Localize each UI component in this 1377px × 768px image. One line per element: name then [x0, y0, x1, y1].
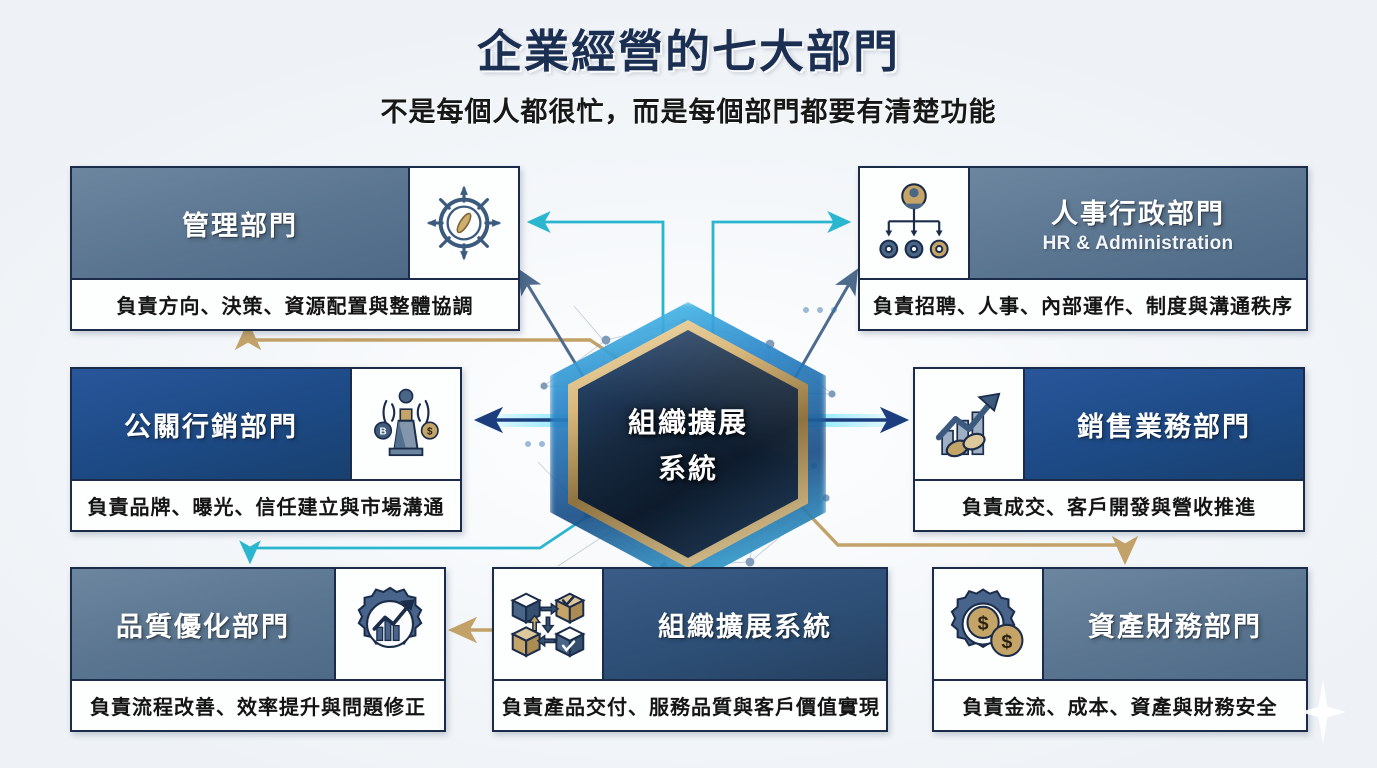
card-sales-desc: 負責成交、客戶開發與營收推進 — [915, 479, 1303, 530]
hub-label-line2: 系統 — [658, 447, 718, 487]
page-subtitle: 不是每個人都很忙，而是每個部門都要有清楚功能 — [0, 90, 1377, 129]
card-marketing-header: 公關行銷部門 — [72, 369, 350, 479]
card-quality-top: 品質優化部門 — [72, 569, 444, 679]
card-orgsys[interactable]: 組織擴展系統 負責產品交付、服務品質與客戶價值實現 — [492, 567, 888, 732]
card-sales-top: 銷售業務部門 — [915, 369, 1303, 479]
card-hr-top: 人事行政部門 HR & Administration — [860, 168, 1306, 278]
hub-label: 組織擴展 系統 — [566, 318, 810, 570]
svg-text:B: B — [379, 427, 386, 438]
gear-coins-icon: $ $ — [934, 569, 1044, 679]
broadcast-tower-icon: B $ — [350, 369, 460, 479]
compass-icon — [408, 168, 518, 278]
card-marketing-desc: 負責品牌、曝光、信任建立與市場溝通 — [72, 479, 460, 530]
hub-label-line1: 組織擴展 — [628, 401, 748, 441]
card-quality-desc: 負責流程改善、效率提升與問題修正 — [72, 679, 444, 730]
card-hr-subtitle: HR & Administration — [1043, 233, 1234, 255]
page-title: 企業經營的七大部門 — [0, 26, 1377, 78]
card-quality-header: 品質優化部門 — [72, 569, 334, 679]
svg-text:$: $ — [1001, 631, 1012, 653]
card-finance-desc: 負責金流、成本、資產與財務安全 — [934, 679, 1306, 730]
card-hr[interactable]: 人事行政部門 HR & Administration 負責招聘、人事、內部運作、… — [858, 166, 1308, 331]
gear-chart-icon — [334, 569, 444, 679]
card-orgsys-title: 組織擴展系統 — [658, 605, 832, 644]
card-finance-title: 資產財務部門 — [1088, 605, 1262, 644]
card-sales[interactable]: 銷售業務部門 負責成交、客戶開發與營收推進 — [913, 367, 1305, 532]
card-quality[interactable]: 品質優化部門 負責流程改善、效率提升與問題修正 — [70, 567, 446, 732]
card-finance-top: $ $ 資產財務部門 — [934, 569, 1306, 679]
card-orgsys-header: 組織擴展系統 — [604, 569, 886, 679]
card-finance[interactable]: $ $ 資產財務部門 負責金流、成本、資產與財務安全 — [932, 567, 1308, 732]
card-management-top: 管理部門 — [72, 168, 518, 278]
card-orgsys-top: 組織擴展系統 — [494, 569, 886, 679]
card-quality-title: 品質優化部門 — [116, 605, 290, 644]
card-hr-desc: 負責招聘、人事、內部運作、制度與溝通秩序 — [860, 278, 1306, 329]
card-management-title: 管理部門 — [182, 204, 298, 243]
card-management-desc: 負責方向、決策、資源配置與整體協調 — [72, 278, 518, 329]
card-management[interactable]: 管理部門 負責方向、決策、資源配置與整體協調 — [70, 166, 520, 331]
growth-chart-chain-icon — [915, 369, 1025, 479]
card-hr-header: 人事行政部門 HR & Administration — [970, 168, 1306, 278]
page-header: 企業經營的七大部門 不是每個人都很忙，而是每個部門都要有清楚功能 — [0, 26, 1377, 129]
card-orgsys-desc: 負責產品交付、服務品質與客戶價值實現 — [494, 679, 886, 730]
card-sales-header: 銷售業務部門 — [1025, 369, 1303, 479]
central-hub: 組織擴展 系統 — [566, 318, 810, 570]
svg-text:$: $ — [427, 427, 433, 438]
cube-workflow-icon — [494, 569, 604, 679]
card-hr-title: 人事行政部門 — [1051, 192, 1225, 231]
card-marketing-top: 公關行銷部門 B $ — [72, 369, 460, 479]
svg-text:$: $ — [978, 613, 989, 635]
card-finance-header: 資產財務部門 — [1044, 569, 1306, 679]
card-marketing-title: 公關行銷部門 — [124, 405, 298, 444]
card-management-header: 管理部門 — [72, 168, 408, 278]
card-sales-title: 銷售業務部門 — [1077, 405, 1251, 444]
org-chart-gears-icon — [860, 168, 970, 278]
card-marketing[interactable]: 公關行銷部門 B $ 負責品牌、曝光、信任建立與市場溝通 — [70, 367, 462, 532]
